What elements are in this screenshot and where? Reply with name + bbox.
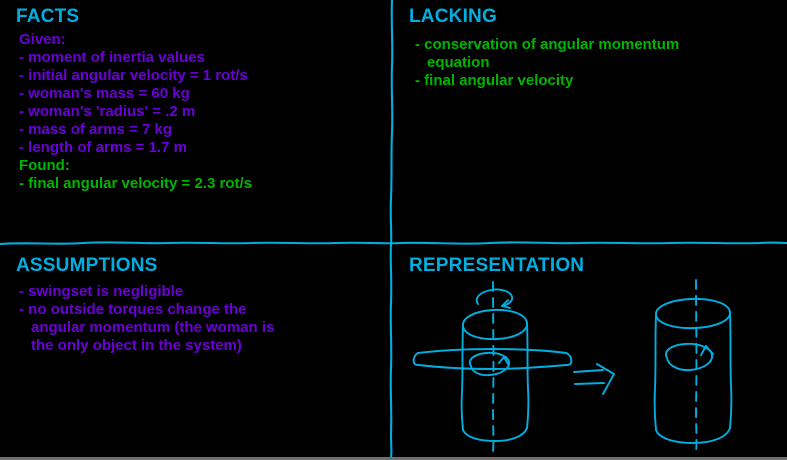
left-cylinder-right-side [527, 323, 528, 428]
facts-found-label: Found: [19, 157, 388, 175]
assumptions-line-list: - swingset is negligible - no outside to… [19, 283, 388, 355]
implies-arrow-head [597, 364, 614, 394]
assumptions-heading: ASSUMPTIONS [16, 255, 388, 277]
quadrant-assumptions: ASSUMPTIONS - swingset is negligible - n… [0, 246, 388, 457]
horizontal-divider [0, 242, 787, 244]
right-cylinder-bottom [656, 428, 730, 443]
representation-sketch [398, 274, 787, 457]
facts-line: - mass of arms = 7 kg [19, 121, 388, 139]
assumptions-line: - no outside torques change the [19, 301, 388, 319]
lacking-line-list: - conservation of angular momentum equat… [415, 36, 787, 90]
right-cylinder-right-side [730, 312, 731, 428]
lacking-line-cont: equation [415, 54, 787, 72]
quadrant-representation: REPRESENTATION [398, 246, 787, 457]
left-top-spin-arrow [477, 289, 512, 306]
vertical-divider [391, 0, 393, 457]
lacking-line: - conservation of angular momentum [415, 36, 787, 54]
assumptions-line-cont: the only object in the system) [19, 337, 388, 355]
facts-line: - moment of inertia values [19, 49, 388, 67]
left-cylinder-bottom [463, 428, 527, 441]
facts-found-line: - final angular velocity = 2.3 rot/s [19, 175, 388, 193]
quadrant-facts: FACTS Given: - moment of inertia values … [0, 0, 388, 238]
right-cylinder-left-side [655, 315, 656, 430]
left-body-spin-arrow [470, 353, 509, 375]
facts-line: - woman's mass = 60 kg [19, 85, 388, 103]
facts-line: Given: [19, 31, 388, 49]
lacking-heading: LACKING [409, 6, 787, 28]
assumptions-line: - swingset is negligible [19, 283, 388, 301]
arms-bar-left-cap [414, 353, 419, 365]
left-cylinder-top-rim [463, 310, 527, 339]
assumptions-line-cont: angular momentum (the woman is [19, 319, 388, 337]
lacking-line: - final angular velocity [415, 72, 787, 90]
facts-line: - woman's 'radius' = .2 m [19, 103, 388, 121]
implies-arrow-lower-bar [575, 383, 604, 384]
left-cylinder-left-side [462, 326, 463, 430]
right-cylinder-top-rim [656, 299, 730, 328]
slide-canvas: FACTS Given: - moment of inertia values … [0, 0, 787, 460]
facts-line: - length of arms = 1.7 m [19, 139, 388, 157]
quadrant-lacking: LACKING - conservation of angular moment… [398, 0, 787, 238]
facts-line: - initial angular velocity = 1 rot/s [19, 67, 388, 85]
implies-arrow-upper-bar [574, 370, 603, 372]
facts-line-list: Given: - moment of inertia values - init… [19, 31, 388, 193]
arms-bar-right-cap [566, 353, 571, 365]
facts-heading: FACTS [16, 6, 388, 28]
